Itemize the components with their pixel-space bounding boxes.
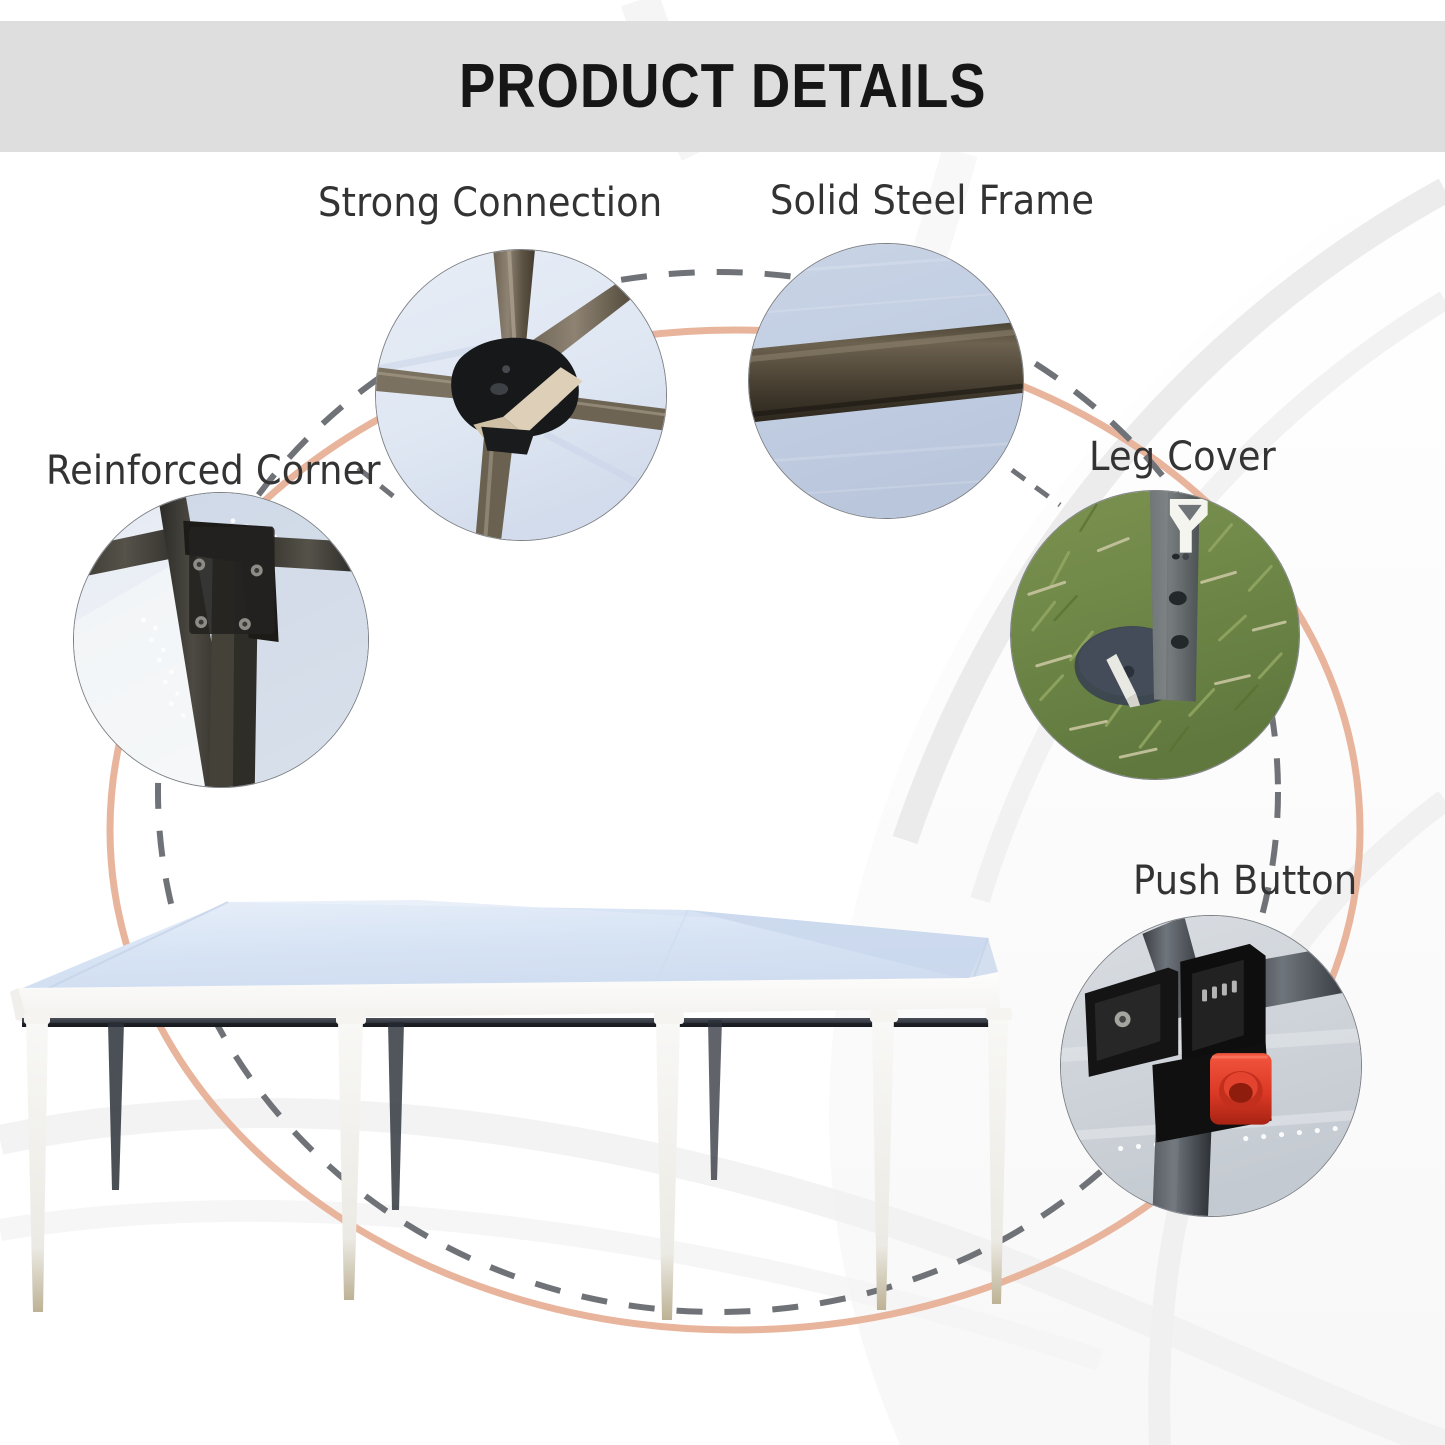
callout-label-push-button: Push Button <box>1133 858 1357 904</box>
product-photo-gazebo <box>0 880 1068 1320</box>
callout-circle-solid-steel-frame <box>748 243 1024 519</box>
callout-circle-strong-connection <box>375 249 667 541</box>
callout-label-reinforced-corner: Reinforced Corner <box>46 448 381 494</box>
product-details-infographic: PRODUCT DETAILS <box>0 0 1445 1445</box>
callout-label-leg-cover: Leg Cover <box>1089 434 1276 480</box>
callout-circle-reinforced-corner <box>73 492 369 788</box>
callout-label-solid-steel-frame: Solid Steel Frame <box>770 178 1094 224</box>
callout-label-strong-connection: Strong Connection <box>318 180 662 226</box>
callout-circle-push-button <box>1060 915 1362 1217</box>
callout-circle-leg-cover <box>1010 490 1300 780</box>
